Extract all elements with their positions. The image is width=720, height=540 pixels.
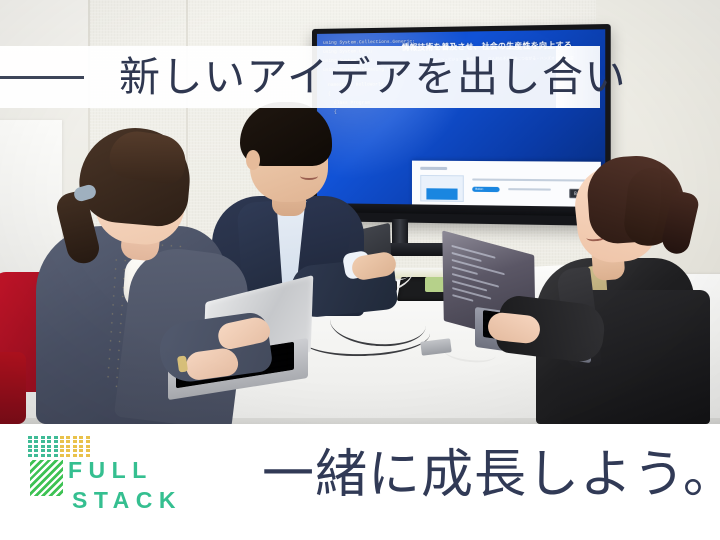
card-heading-bar (420, 167, 447, 170)
headline-text: 新しいアイデアを出し合い (119, 48, 627, 106)
card-button: Button (472, 187, 499, 192)
card-text-line (508, 188, 551, 191)
cable-bundle (425, 277, 445, 292)
logo-striped-square-icon (30, 460, 63, 496)
tagline-text: 一緒に成長しよう。 (262, 440, 708, 512)
fullstack-logo[interactable]: FULL STACK (28, 436, 198, 508)
card-row: Button (420, 175, 592, 206)
man-ear (246, 150, 260, 170)
logo-wordmark: FULL STACK (68, 458, 182, 513)
card-button-label: Button (475, 188, 483, 191)
card-text-line (472, 178, 585, 182)
promo-banner: using System.Collections.Generic; using … (0, 0, 720, 540)
card-thumbnail (420, 175, 464, 202)
red-chair-seat (0, 352, 26, 424)
headline-rule (0, 76, 84, 79)
code-line: { (323, 108, 420, 117)
man-mouth (300, 172, 318, 180)
tv-stand-neck (392, 219, 408, 245)
logo-line-stack: STACK (72, 488, 182, 513)
logo-line-full: FULL (68, 458, 182, 483)
logo-dot-grid (28, 436, 92, 456)
